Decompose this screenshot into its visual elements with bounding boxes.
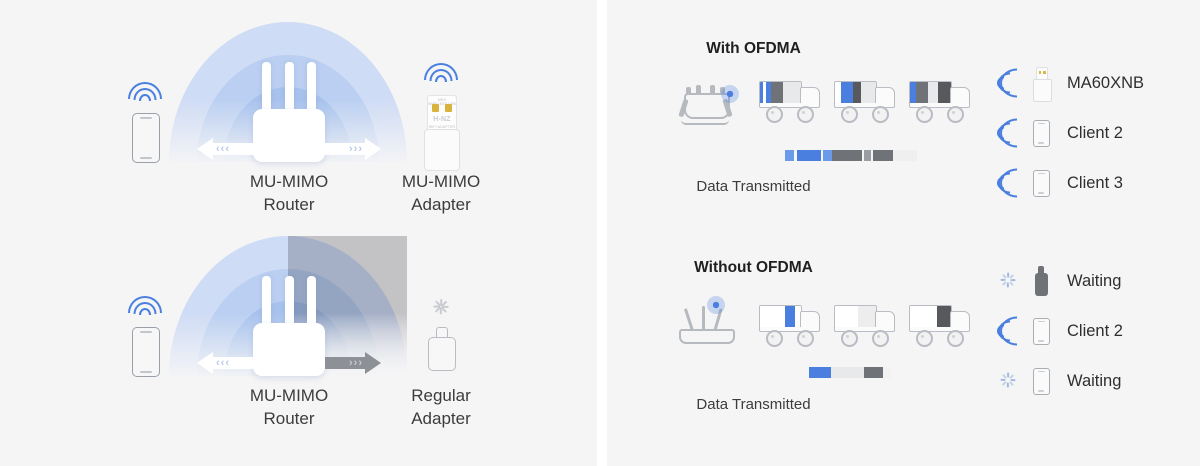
usb-face-text-mid: H-NZ	[428, 116, 456, 123]
adapter-wifi-icon	[424, 63, 458, 87]
with-ofdma-title: With OFDMA	[457, 40, 1050, 58]
truck-5-cargo	[834, 305, 877, 329]
arrow-left-chevrons-2: ‹‹‹	[216, 353, 230, 373]
plain-usb-dongle-icon	[428, 327, 454, 369]
truck-3	[909, 80, 972, 118]
truck-1	[759, 80, 822, 118]
arrow-left-2: ‹‹‹	[197, 349, 253, 377]
ofdma-panel: With OFDMA	[607, 0, 1200, 466]
client-row-3: Client 3	[995, 158, 1144, 208]
section-without-ofdma: Without OFDMA	[607, 226, 1200, 459]
arrow-right-chevrons: ›››	[349, 139, 363, 159]
wifi-signal-icon-4	[995, 318, 1021, 344]
smartphone-icon-5	[1028, 318, 1054, 345]
smartphone-icon-6	[1028, 368, 1054, 395]
truck-4-cargo	[759, 305, 802, 329]
data-transmitted-label-1: Data Transmitted	[457, 178, 1050, 195]
phone-wifi-icon-2	[128, 296, 162, 320]
broken-signal-burst-icon	[424, 291, 458, 321]
truck-3-cargo	[909, 81, 952, 105]
arrow-right-2: ›››	[325, 349, 381, 377]
router-icon-2	[253, 276, 325, 376]
data-transmitted-label-2: Data Transmitted	[457, 396, 1050, 413]
router-label-2-line2: Router	[229, 409, 349, 429]
client-label-1: MA60XNB	[1067, 74, 1144, 93]
client-label-6: Waiting	[1067, 372, 1121, 391]
usb-adapter-icon-1	[1028, 67, 1054, 100]
classic-router-icon	[677, 306, 733, 346]
arrow-right-chevrons-2: ›››	[349, 353, 363, 373]
infographic-root: ‹‹‹ ››› MINI WIRELESS USB H-NZ WIFI ADAP…	[0, 0, 1200, 466]
client-row-6: Waiting	[995, 356, 1123, 406]
truck-4	[759, 304, 822, 342]
smartphone-icon	[132, 113, 160, 163]
section-with-ofdma: With OFDMA	[607, 0, 1200, 233]
truck-1-cargo	[759, 81, 802, 105]
wifi-signal-icon-1	[995, 70, 1021, 96]
phone-wifi-icon	[128, 82, 162, 106]
client-row-5: Client 2	[995, 306, 1123, 356]
router-label-line1: MU-MIMO	[229, 172, 349, 192]
adapter-label-line2: Adapter	[381, 195, 501, 215]
client-row-1: MA60XNB	[995, 58, 1144, 108]
router-signal-dot-2	[707, 296, 725, 314]
client-label-4: Waiting	[1067, 272, 1121, 291]
arrow-left: ‹‹‹	[197, 135, 253, 163]
without-ofdma-title: Without OFDMA	[457, 259, 1050, 277]
client-row-4: Waiting	[995, 256, 1123, 306]
spinner-icon-2	[995, 368, 1021, 394]
client-list-with-ofdma: MA60XNB Client 2 Client 3	[995, 58, 1144, 208]
wifi-signal-icon-2	[995, 120, 1021, 146]
smartphone-icon-4	[1028, 170, 1054, 197]
truck-2-cargo	[834, 81, 877, 105]
wifi-signal-icon-3	[995, 170, 1021, 196]
usb-wifi-adapter-icon: MINI WIRELESS USB H-NZ WIFI ADAPTER	[424, 95, 458, 169]
truck-5	[834, 304, 897, 342]
spinner-icon-1	[995, 268, 1021, 294]
client-label-3: Client 3	[1067, 174, 1123, 193]
data-progress-bar-1	[785, 150, 917, 161]
arrow-right: ›››	[325, 135, 381, 163]
router-signal-dot	[721, 85, 739, 103]
router-icon	[253, 62, 325, 162]
client-label-5: Client 2	[1067, 322, 1123, 341]
truck-6	[909, 304, 972, 342]
router-label-line2: Router	[229, 195, 349, 215]
smartphone-icon-3	[1028, 120, 1054, 147]
client-row-2: Client 2	[995, 108, 1144, 158]
truck-6-cargo	[909, 305, 952, 329]
client-label-2: Client 2	[1067, 124, 1123, 143]
router-label-2-line1: MU-MIMO	[229, 386, 349, 406]
smartphone-icon-2	[132, 327, 160, 377]
data-progress-bar-2	[809, 367, 891, 378]
arrow-left-chevrons: ‹‹‹	[216, 139, 230, 159]
usb-adapter-dark-icon	[1028, 266, 1054, 296]
truck-2	[834, 80, 897, 118]
scene-mu-mimo-supported: ‹‹‹ ››› MINI WIRELESS USB H-NZ WIFI ADAP…	[0, 0, 597, 233]
client-list-without-ofdma: Waiting Client 2	[995, 256, 1123, 406]
